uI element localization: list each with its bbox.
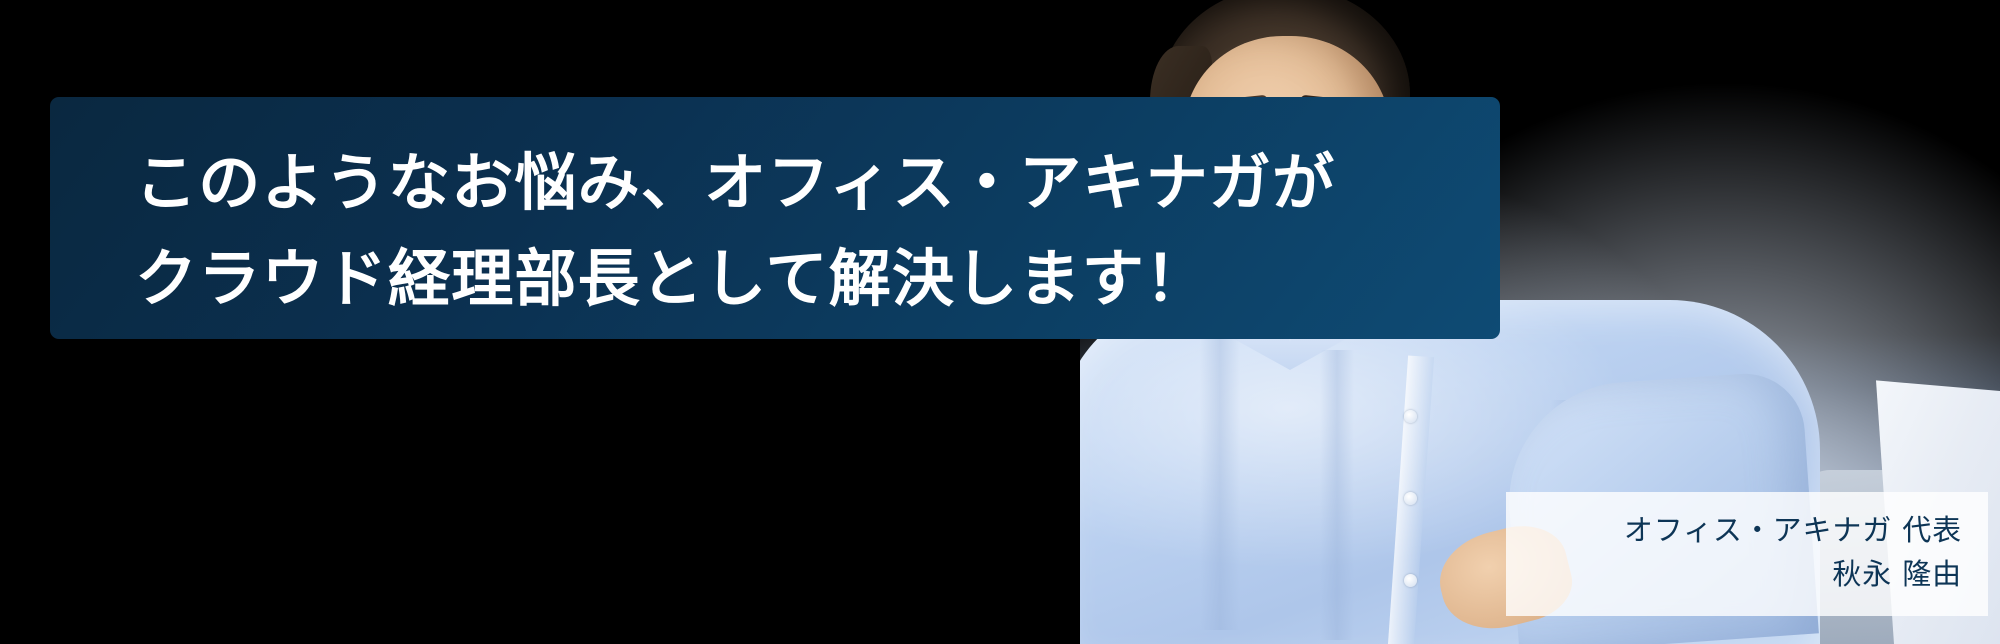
fabric-fold (1320, 350, 1354, 640)
banner-hero-section: このようなお悩み、オフィス・アキナガが クラウド経理部長として解決します！ オフ… (0, 0, 2000, 644)
shirt-button (1404, 410, 1417, 423)
headline-banner: このようなお悩み、オフィス・アキナガが クラウド経理部長として解決します！ (50, 97, 1500, 339)
presenter-caption: オフィス・アキナガ 代表 秋永 隆由 (1506, 492, 1988, 616)
caption-name: 秋永 隆由 (1532, 552, 1962, 596)
shirt-button (1404, 574, 1417, 587)
fabric-fold (1200, 330, 1240, 630)
caption-title: オフィス・アキナガ 代表 (1532, 508, 1962, 552)
shirt-button (1404, 492, 1417, 505)
headline-text: このようなお悩み、オフィス・アキナガが クラウド経理部長として解決します！ (135, 135, 1435, 327)
